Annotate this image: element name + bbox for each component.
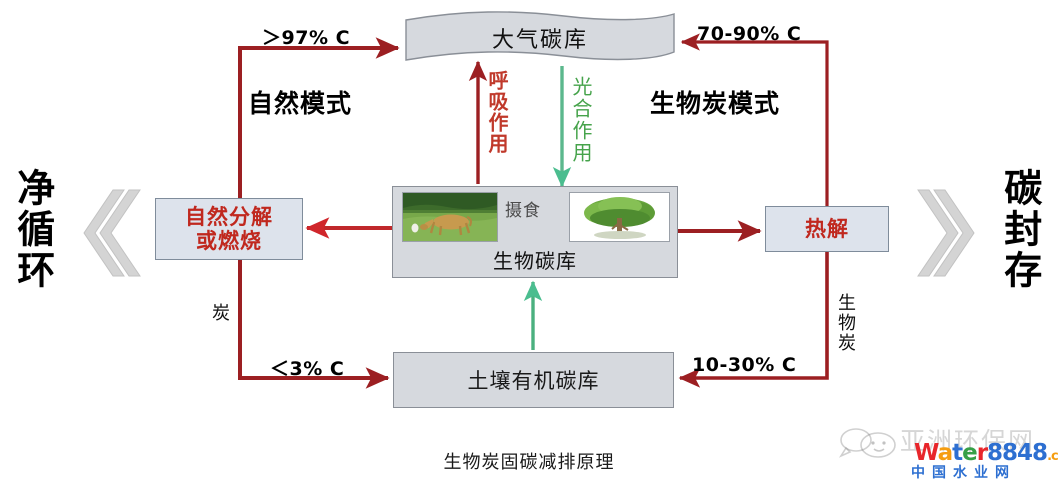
node-atmosphere-carbon-pool[interactable]: 大气碳库	[404, 8, 676, 64]
flow-label-to-atmosphere-natural: ＞97% C	[262, 23, 350, 50]
flow-label-to-soil-biochar: 10-30% C	[692, 354, 796, 376]
atmosphere-label: 大气碳库	[404, 22, 676, 54]
pyrolysis-label: 热解	[805, 217, 849, 241]
brand-tld: .com	[1047, 449, 1058, 464]
mode-title-biochar: 生物炭模式	[650, 84, 780, 120]
biomass-pool-label: 生物碳库	[393, 245, 677, 274]
node-soil-organic-carbon-pool[interactable]: 土壤有机碳库	[393, 352, 674, 408]
soil-pool-label: 土壤有机碳库	[468, 365, 600, 395]
watermark-cn-bottom: 中国水业网	[911, 462, 1016, 482]
flow-label-to-atmosphere-biochar: 70-90% C	[697, 23, 801, 45]
chat-bubbles-logo-icon	[838, 426, 900, 460]
decomposition-label-line2: 或燃烧	[185, 229, 273, 253]
diagram-canvas: 大气碳库	[0, 0, 1058, 486]
arrow-decomp-to-atmosphere	[240, 48, 398, 198]
flow-label-to-soil-natural: ＜3% C	[270, 354, 344, 381]
photosynthesis-label: 光合作用	[571, 76, 591, 164]
respiration-label: 呼吸作用	[487, 70, 507, 154]
mode-title-natural: 自然模式	[248, 84, 352, 120]
grazing-label: 摄食	[505, 196, 541, 221]
charcoal-label: 炭	[210, 303, 228, 321]
node-pyrolysis[interactable]: 热解	[765, 206, 889, 252]
decomposition-label-line1: 自然分解	[185, 205, 273, 229]
label-carbon-sequestration: 碳封存	[1000, 168, 1039, 291]
biochar-product-label: 生物炭	[836, 293, 854, 353]
cow-grazing-photo	[402, 192, 498, 242]
arrow-pyrolysis-to-atmosphere	[682, 42, 827, 206]
double-chevron-right-icon	[918, 190, 974, 276]
tree-photo	[569, 192, 670, 242]
label-net-cycle: 净循环	[13, 168, 52, 291]
node-natural-decomposition[interactable]: 自然分解 或燃烧	[155, 198, 303, 260]
double-chevron-left-icon	[84, 190, 140, 276]
watermark: 亚洲环保网 Water8848.com 中国水业网	[838, 424, 1053, 482]
